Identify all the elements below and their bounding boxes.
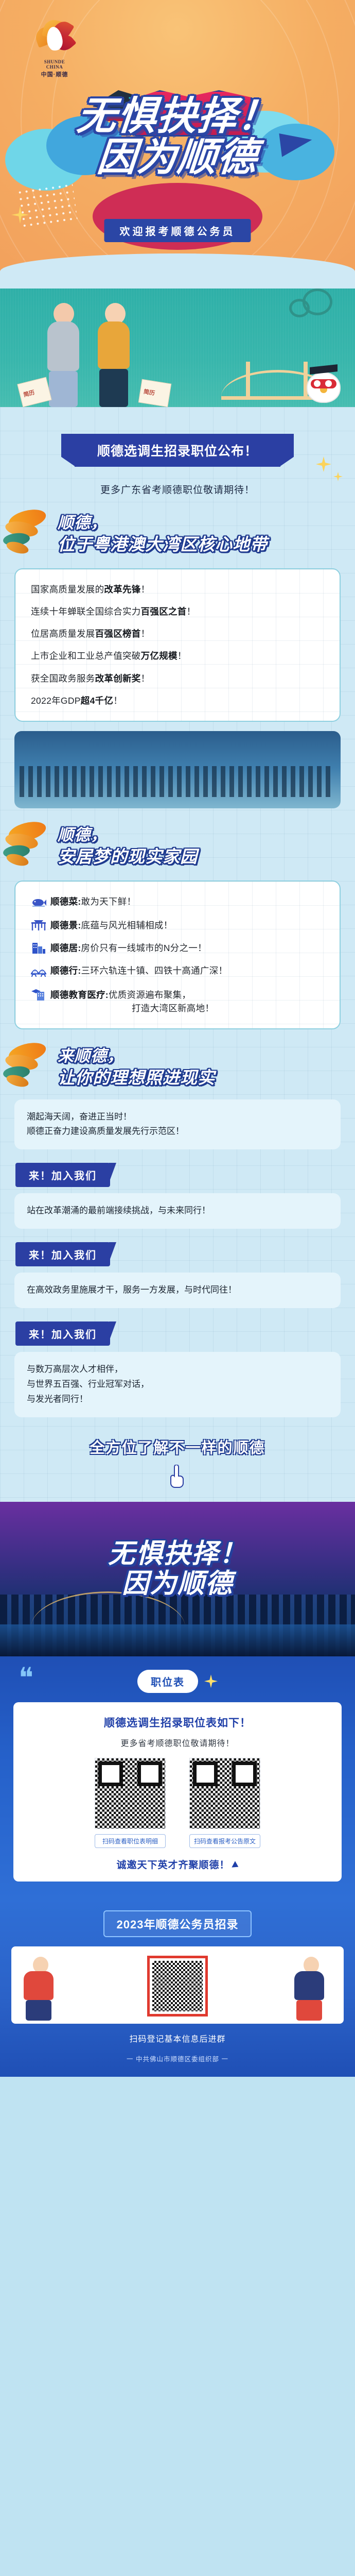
list-item: 国家高质量发展的改革先锋！ [31,583,326,596]
sparkle-icon [316,456,331,472]
item-text: 优质资源遍布聚集， [109,990,191,1000]
dream-heading-line2: 让你的理想照进现实 [58,1068,355,1088]
item-text: 上市企业和工业总产值突破 [31,651,141,661]
resume-paper-1: 简历 [17,377,51,407]
bottom-qr-panel [11,1946,344,2024]
hero-title-line1: 无惧抉择！ [0,94,355,138]
poster-page: SHUNDE CHINA 中国·顺德 无惧抉择！ 因为顺德 欢迎报考顺德公务员 [0,0,355,2077]
bottom-section: 2023年顺德公务员招录 扫码登记基本信息后进群 一 中共佛山市顺德区委组织部 … [0,1899,355,2077]
position-table-header: 职位表 [0,1670,355,1693]
join-block-3: 来！加入我们 [0,1308,355,1346]
item-strong: 超4千亿 [81,696,113,706]
announcement-section: 顺德选调生招录职位公布！ 更多广东省考顺德职位敬请期待！ 顺德， 位于粤港澳大湾… [0,407,355,1502]
night-title-line2: 因为顺德 [0,1569,355,1599]
join-block-2: 来！加入我们 [0,1229,355,1266]
cloud-motif-icon [273,289,334,328]
building-icon [31,942,46,955]
logo-cn-text: 中国·顺德 [30,70,79,78]
home-card: 顺德菜:敢为天下鲜！ 顺德景:底蕴与风光相辅相成！ 顺德居:房价只有一线城市的N… [14,880,341,1030]
join-card-3-line1: 与数万高层次人才相伴， [27,1362,328,1377]
list-item: 上市企业和工业总产值突破万亿规模！ [31,649,326,663]
item-label: 顺德教育医疗: [50,990,109,1000]
phoenix-decor-icon [3,1041,57,1090]
item-strong: 改革先锋 [104,584,140,595]
item-tail: ！ [141,673,150,684]
dream-heading-line1: 来顺德， [58,1047,355,1066]
item-text-line2: 打造大湾区新高地！ [31,1002,326,1015]
item-strong: 百强区榜首 [95,629,141,639]
list-item: 顺德景:底蕴与风光相辅相成！ [31,919,326,933]
qr-caption-2: 扫码查看报考公告原文 [189,1834,260,1848]
list-item: 顺德行:三环六轨连十镇、四铁十高通广深！ [31,964,326,979]
bottom-caption: 扫码登记基本信息后进群 [0,2032,355,2044]
city-photo-strip [14,731,341,808]
quote-mark-icon: ❝ [19,1668,33,1688]
join-card-2: 在高效政务里施展才干，服务一方发展，与时代同往！ [14,1273,341,1308]
qr-code-icon[interactable] [189,1758,260,1829]
person-illustration-2 [98,303,130,407]
item-strong: 改革创新奖 [95,673,141,684]
join-card-3-line3: 与发光者同行！ [27,1392,328,1407]
hero-title-line2: 因为顺德 [0,135,355,179]
night-banner-title: 无惧抉择！ 因为顺德 [0,1539,355,1599]
item-strong: 百强区之首 [141,606,187,617]
home-heading: 顺德， 安居梦的现实家园 [0,808,355,872]
qr-footer-label: 诚邀天下英才齐聚顺德！ [116,1860,229,1871]
item-tail: ！ [113,696,122,706]
bridge-icon [31,965,46,979]
qr-code-icon[interactable] [147,1956,208,2016]
bottom-title: 2023年顺德公务员招录 [103,1910,252,1937]
item-label: 顺德菜: [50,896,81,907]
item-label: 顺德行: [50,965,81,976]
item-text: 位居高质量发展 [31,629,95,639]
location-list: 国家高质量发展的改革先锋！ 连续十年蝉联全国综合实力百强区之首！ 位居高质量发展… [31,583,326,708]
logo-en-line2: CHINA [30,64,79,70]
join-block-1: 来！加入我们 [0,1149,355,1187]
dream-heading: 来顺德， 让你的理想照进现实 [0,1029,355,1093]
list-item: 顺德菜:敢为天下鲜！ [31,895,326,910]
cta-text: 全方位了解不一样的顺德 [0,1417,355,1462]
list-item: 位居高质量发展百强区榜首！ [31,627,326,640]
join-card-3-line2: 与世界五百强、行业冠军对话， [27,1377,328,1392]
resume-paper-2: 简历 [138,379,171,407]
join-card-1: 站在改革潮涌的最前端接续挑战，与未来同行！ [14,1193,341,1229]
item-text: 获全国政务服务 [31,673,95,684]
announcement-note: 更多广东省考顺德职位敬请期待！ [0,482,355,496]
item-tail: ！ [177,651,187,661]
night-banner: 无惧抉择！ 因为顺德 [0,1502,355,1656]
logo-en-line1: SHUNDE [30,59,79,64]
item-tail: ！ [141,584,150,595]
cursor-arrow-icon [232,1861,240,1870]
mascot-icon [304,360,344,404]
location-heading-line1: 顺德， [58,514,355,533]
qr-code-block-2[interactable]: 扫码查看报考公告原文 [189,1758,260,1848]
hero-subtitle: 欢迎报考顺德公务员 [104,219,251,242]
qr-footer-text: 诚邀天下英才齐聚顺德！ [24,1857,331,1871]
pointing-hand-icon [167,1465,188,1488]
item-label: 顺德居: [50,943,81,953]
item-label: 顺德景: [50,920,81,930]
person-illustration-1 [47,303,79,407]
phoenix-logo-icon [35,20,74,58]
home-heading-line2: 安居梦的现实家园 [58,847,355,867]
announcement-ribbon-wrap: 顺德选调生招录职位公布！ [0,407,355,471]
home-list: 顺德菜:敢为天下鲜！ 顺德景:底蕴与风光相辅相成！ 顺德居:房价只有一线城市的N… [31,895,326,1015]
item-text: 三环六轨连十镇、四铁十高通广深！ [81,965,228,976]
qr-panel-subtitle: 更多省考顺德职位敬请期待！ [24,1736,331,1749]
sparkle-icon [204,1674,218,1688]
location-heading-line2: 位于粤港澳大湾区核心地带 [58,535,355,555]
item-text: 2022年GDP [31,696,81,706]
night-water [0,1624,355,1656]
qr-code-icon[interactable] [95,1758,166,1829]
position-table-section: ❝ 职位表 顺德选调生招录职位表如下！ 更多省考顺德职位敬请期待！ 扫码查看职位… [0,1656,355,1899]
join-pill-3[interactable]: 来！加入我们 [15,1321,110,1346]
list-item: 获全国政务服务改革创新奖！ [31,672,326,685]
illustration-band: 简历 简历 [0,289,355,407]
city-photo [14,731,341,808]
phoenix-decor-icon [3,820,57,869]
qr-panel-title: 顺德选调生招录职位表如下！ [24,1715,331,1730]
list-item: 顺德居:房价只有一线城市的N分之一！ [31,941,326,955]
item-tail: ！ [141,629,150,639]
qr-caption-1: 扫码查看职位表明细 [95,1834,166,1848]
location-card: 国家高质量发展的改革先锋！ 连续十年蝉联全国综合实力百强区之首！ 位居高质量发展… [14,568,341,722]
fish-icon [31,896,46,910]
join-pill-1[interactable]: 来！加入我们 [15,1163,110,1187]
join-pill-2[interactable]: 来！加入我们 [15,1242,110,1266]
dream-intro-line2: 顺德正奋力建设高质量发展先行示范区！ [27,1124,328,1139]
join-card-2-line1: 在高效政务里施展才干，服务一方发展，与时代同往！ [27,1283,328,1298]
night-title-line1: 无惧抉择！ [0,1539,355,1569]
item-tail: ！ [187,606,196,617]
education-hospital-icon [31,988,46,1001]
item-strong: 万亿规模 [141,651,177,661]
item-text: 连续十年蝉联全国综合实力 [31,606,141,617]
shunde-logo: SHUNDE CHINA 中国·顺德 [30,20,79,78]
list-item: 顺德教育医疗:优质资源遍布聚集， 打造大湾区新高地！ [31,988,326,1015]
item-text: 敢为天下鲜！ [81,896,136,907]
hero-bottom-wave [0,253,355,289]
list-item: 2022年GDP超4千亿！ [31,694,326,707]
item-text: 国家高质量发展的 [31,584,104,595]
bottom-credit: 一 中共佛山市顺德区委组织部 一 [0,2054,355,2063]
hero-title: 无惧抉择！ 因为顺德 [0,94,355,179]
dream-intro-card: 潮起海天阔，奋进正当时！ 顺德正奋力建设高质量发展先行示范区！ [14,1099,341,1150]
qr-code-pair: 扫码查看职位表明细 扫码查看报考公告原文 [24,1758,331,1848]
qr-code-block-1[interactable]: 扫码查看职位表明细 [95,1758,166,1848]
announcement-ribbon: 顺德选调生招录职位公布！ [75,434,280,467]
home-heading-line1: 顺德， [58,826,355,845]
dream-intro-line1: 潮起海天阔，奋进正当时！ [27,1110,328,1125]
join-card-1-line1: 站在改革潮涌的最前端接续挑战，与未来同行！ [27,1204,328,1218]
archway-icon [31,919,46,933]
qr-panel: 顺德选调生招录职位表如下！ 更多省考顺德职位敬请期待！ 扫码查看职位表明细 扫码… [13,1702,342,1882]
location-heading: 顺德， 位于粤港澳大湾区核心地带 [0,496,355,560]
person-illustration-3 [24,1957,61,2019]
position-table-badge: 职位表 [137,1670,198,1693]
phoenix-decor-icon [3,507,57,557]
hero-section: SHUNDE CHINA 中国·顺德 无惧抉择！ 因为顺德 欢迎报考顺德公务员 [0,0,355,289]
decor-white-dots [16,182,77,228]
item-text: 房价只有一线城市的N分之一！ [81,943,207,953]
list-item: 连续十年蝉联全国综合实力百强区之首！ [31,605,326,618]
person-illustration-4 [294,1957,331,2019]
sparkle-icon [333,472,343,481]
item-text: 底蕴与风光相辅相成！ [81,920,173,930]
join-card-3: 与数万高层次人才相伴， 与世界五百强、行业冠军对话， 与发光者同行！ [14,1352,341,1417]
